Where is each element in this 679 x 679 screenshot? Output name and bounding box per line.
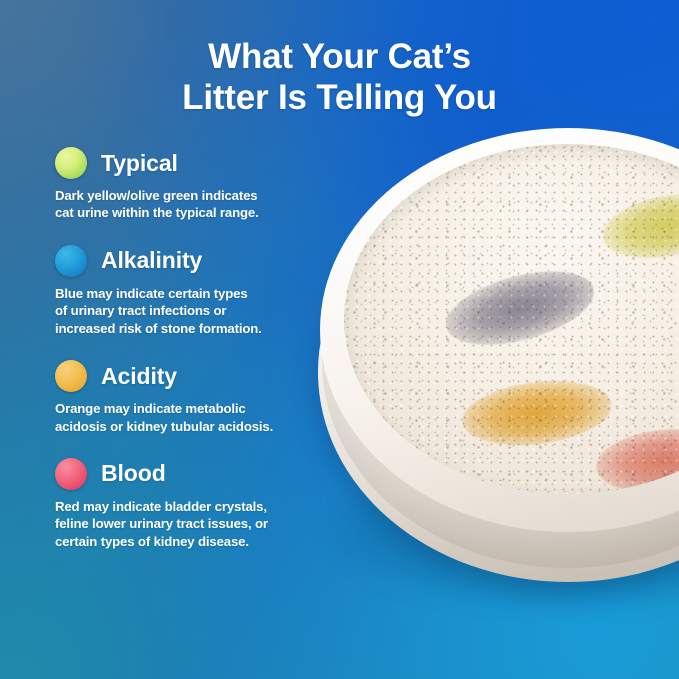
description-line: Red may indicate bladder crystals, [55,498,345,515]
description-line: increased risk of stone formation. [55,320,345,337]
legend-item-alkalinity-description: Blue may indicate certain types of urina… [55,285,345,337]
legend-item-acidity-label: Acidity [101,363,177,390]
description-line: feline lower urinary tract issues, or [55,515,345,532]
legend-item-typical-label: Typical [101,150,178,177]
legend-item-acidity-description: Orange may indicate metabolic acidosis o… [55,400,345,435]
legend-item-alkalinity: Alkalinity Blue may indicate certain typ… [55,244,345,337]
infographic-canvas: What Your Cat’s Litter Is Telling You Ty… [0,0,679,679]
litter-surface [344,144,679,494]
legend-item-blood: Blood Red may indicate bladder crystals,… [55,457,345,550]
legend-item-typical: Typical Dark yellow/olive green indicate… [55,146,345,222]
page-title-line-2: Litter Is Telling You [0,77,679,118]
description-line: of urinary tract infections or [55,302,345,319]
description-line: certain types of kidney disease. [55,533,345,550]
litter-grain-overlay [344,144,679,494]
orange-circle-icon [55,360,87,392]
description-line: acidosis or kidney tubular acidosis. [55,418,345,435]
legend-item-acidity-header: Acidity [55,359,345,393]
description-line: Dark yellow/olive green indicates [55,187,345,204]
red-circle-icon [55,458,87,490]
legend-item-acidity: Acidity Orange may indicate metabolic ac… [55,359,345,435]
legend-list: Typical Dark yellow/olive green indicate… [55,146,345,572]
litter-pan-photo [318,128,679,598]
legend-item-alkalinity-label: Alkalinity [101,247,202,274]
green-circle-icon [55,147,87,179]
description-line: Orange may indicate metabolic [55,400,345,417]
legend-item-alkalinity-header: Alkalinity [55,244,345,278]
legend-item-typical-description: Dark yellow/olive green indicates cat ur… [55,187,345,222]
legend-item-blood-header: Blood [55,457,345,491]
legend-item-blood-description: Red may indicate bladder crystals, felin… [55,498,345,550]
legend-item-typical-header: Typical [55,146,345,180]
legend-item-blood-label: Blood [101,460,166,487]
blue-circle-icon [55,245,87,277]
page-title: What Your Cat’s Litter Is Telling You [0,36,679,119]
description-line: cat urine within the typical range. [55,204,345,221]
description-line: Blue may indicate certain types [55,285,345,302]
page-title-line-1: What Your Cat’s [0,36,679,77]
